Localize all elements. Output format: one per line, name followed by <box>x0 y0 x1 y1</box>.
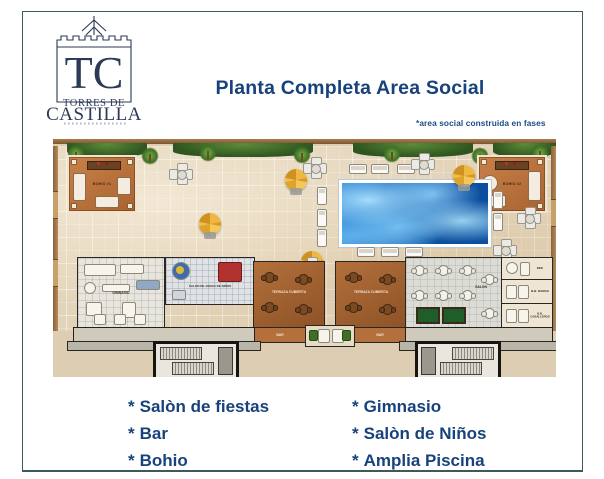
sun-lounger <box>371 164 389 174</box>
room-label: BAR <box>254 333 306 337</box>
room-label: SALON <box>464 285 498 289</box>
frame-border-top <box>22 11 582 12</box>
feature-item: *Amplia Piscina <box>352 447 486 474</box>
gate-left <box>53 191 58 219</box>
brand-logo: TC TORRES DE CASTILLA <box>38 14 154 126</box>
room-salon: SALON <box>405 257 503 329</box>
room-label: BAR <box>354 333 406 337</box>
hedge-planting <box>173 143 313 157</box>
sun-lounger <box>493 191 503 209</box>
sun-lounger <box>317 229 327 247</box>
sun-lounger <box>349 164 367 174</box>
room-label: TERRAZA CUBIERTA <box>268 290 310 294</box>
feature-item: *Bar <box>128 420 269 447</box>
patio-umbrella <box>451 165 477 191</box>
room-gimnasio: GIMNASIO <box>77 257 165 329</box>
gate-left-2 <box>53 259 58 287</box>
logo-monogram: TC <box>65 47 124 98</box>
room-salon-juegos: SALON DE JUEGO DE NIÑOS <box>165 257 255 305</box>
castle-tower-icon: TC TORRES DE CASTILLA <box>38 14 154 126</box>
floor-plan-image: BOHIO #1 BOHIO #2 <box>53 139 556 377</box>
bullet-asterisk: * <box>128 397 135 416</box>
page-title: Planta Completa Area Social <box>180 77 520 100</box>
room-label: B.B. CABALLEROS <box>530 313 550 320</box>
sun-lounger <box>317 209 327 227</box>
sun-lounger <box>317 187 327 205</box>
sun-lounger <box>405 247 423 257</box>
feature-item: *Gimnasio <box>352 393 486 420</box>
room-label: DEP. <box>530 267 550 271</box>
patio-umbrella <box>197 213 223 239</box>
room-terraza-cubierta-left: TERRAZA CUBIERTA <box>253 261 325 329</box>
frame-border-right <box>582 11 583 471</box>
frame-border-bottom <box>22 470 583 472</box>
room-deposito: DEP. <box>501 257 553 281</box>
seating-group <box>517 207 541 229</box>
sun-lounger <box>357 247 375 257</box>
feature-label: Bar <box>140 424 168 443</box>
feature-label: Bohio <box>140 451 188 470</box>
phases-note: *area social construida en fases <box>416 118 546 128</box>
gate-right <box>551 199 556 227</box>
feature-item: *Salòn de fiestas <box>128 393 269 420</box>
bullet-asterisk: * <box>352 451 359 470</box>
seating-group <box>411 153 435 175</box>
room-bar-left: BAR <box>253 327 307 343</box>
feature-label: Amplia Piscina <box>364 451 485 470</box>
palm-tree <box>199 144 217 162</box>
seating-group <box>303 157 327 179</box>
seating-group <box>169 163 193 185</box>
bullet-asterisk: * <box>128 451 135 470</box>
room-label: BOHIO #1 <box>69 182 135 186</box>
feature-item: *Salòn de Niños <box>352 420 486 447</box>
bullet-asterisk: * <box>352 424 359 443</box>
room-label: SALON DE JUEGO DE NIÑOS <box>166 286 254 290</box>
palm-tree <box>383 145 401 163</box>
stairs-left <box>153 341 239 377</box>
frame-border-left <box>22 11 23 471</box>
feature-label: Salòn de fiestas <box>140 397 269 416</box>
room-terraza-cubierta-right: TERRAZA CUBIERTA <box>335 261 407 329</box>
features-list-right: *Gimnasio *Salòn de Niños *Amplia Piscin… <box>352 393 486 474</box>
feature-item: *Bohio <box>128 447 269 474</box>
bullet-asterisk: * <box>128 424 135 443</box>
room-label: GIMNASIO <box>78 291 164 295</box>
sun-lounger <box>493 213 503 231</box>
room-bano-caballeros: B.B. CABALLEROS <box>501 303 553 329</box>
logo-line-2: CASTILLA <box>46 104 142 125</box>
palm-tree <box>141 147 159 165</box>
room-label: B.B. DAMAS <box>530 290 550 294</box>
room-bano-damas: B.B. DAMAS <box>501 279 553 305</box>
lobby-entry <box>305 325 355 347</box>
room-label: TERRAZA CUBIERTA <box>350 290 392 294</box>
slide-canvas: TC TORRES DE CASTILLA Planta Completa Ar… <box>0 0 604 479</box>
feature-label: Salòn de Niños <box>364 424 487 443</box>
feature-label: Gimnasio <box>364 397 441 416</box>
bullet-asterisk: * <box>352 397 359 416</box>
features-list-left: *Salòn de fiestas *Bar *Bohio <box>128 393 269 474</box>
room-bohio-left: BOHIO #1 <box>67 155 137 213</box>
stairs-right <box>415 341 501 377</box>
sun-lounger <box>381 247 399 257</box>
perimeter-wall-left <box>53 146 58 331</box>
